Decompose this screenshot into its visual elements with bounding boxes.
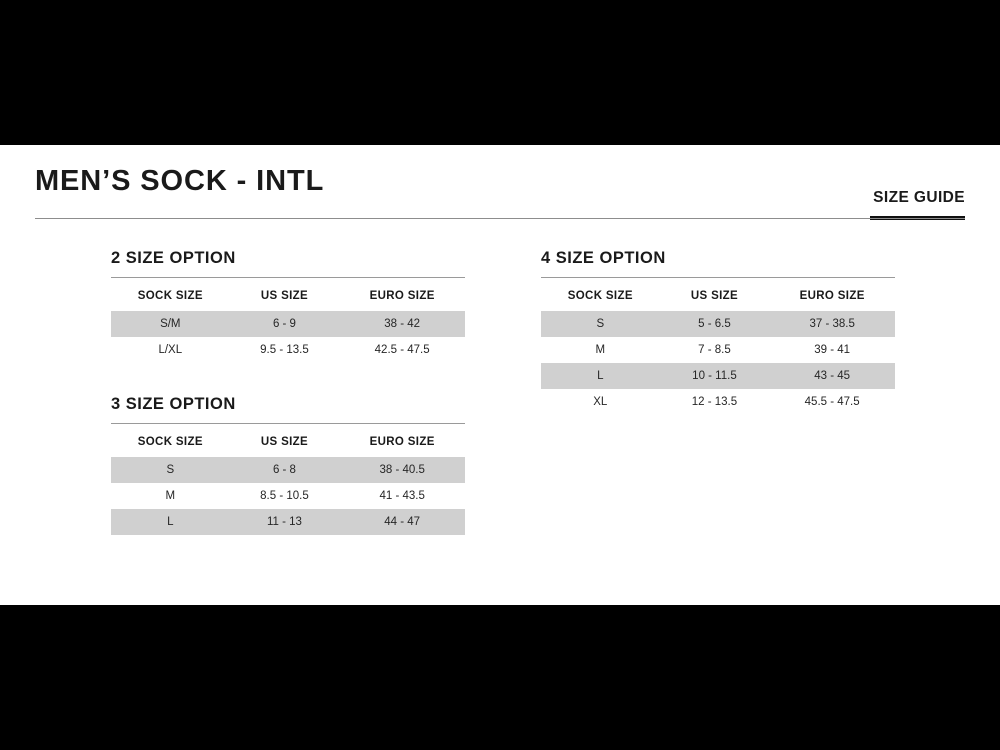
column-header-sock-size: SOCK SIZE	[541, 278, 660, 311]
cell-us-size: 8.5 - 10.5	[230, 483, 340, 509]
size-guide-sheet: MEN’S SOCK - INTL SIZE GUIDE 2 SIZE OPTI…	[0, 145, 1000, 605]
cell-sock-size: L	[541, 363, 660, 389]
cell-euro-size: 41 - 43.5	[339, 483, 465, 509]
cell-us-size: 12 - 13.5	[660, 389, 770, 415]
table-row: L/XL 9.5 - 13.5 42.5 - 47.5	[111, 337, 465, 363]
table-row: M 8.5 - 10.5 41 - 43.5	[111, 483, 465, 509]
cell-us-size: 7 - 8.5	[660, 337, 770, 363]
cell-euro-size: 38 - 42	[339, 311, 465, 337]
table-row: M 7 - 8.5 39 - 41	[541, 337, 895, 363]
cell-euro-size: 43 - 45	[769, 363, 895, 389]
cell-euro-size: 44 - 47	[339, 509, 465, 535]
letterbox-top	[0, 0, 1000, 145]
cell-sock-size: M	[111, 483, 230, 509]
cell-euro-size: 45.5 - 47.5	[769, 389, 895, 415]
size-table-3-option: SOCK SIZE US SIZE EURO SIZE S 6 - 8 38 -…	[111, 424, 465, 535]
column-header-euro-size: EURO SIZE	[339, 278, 465, 311]
size-guide-label: SIZE GUIDE	[873, 189, 965, 207]
column-header-euro-size: EURO SIZE	[339, 424, 465, 457]
table-row: L 10 - 11.5 43 - 45	[541, 363, 895, 389]
size-table-4-option: SOCK SIZE US SIZE EURO SIZE S 5 - 6.5 37…	[541, 278, 895, 415]
column-header-us-size: US SIZE	[230, 278, 340, 311]
table-row: S 5 - 6.5 37 - 38.5	[541, 311, 895, 337]
cell-sock-size: M	[541, 337, 660, 363]
cell-us-size: 10 - 11.5	[660, 363, 770, 389]
right-column: 4 SIZE OPTION SOCK SIZE US SIZE EURO SIZ…	[541, 249, 895, 415]
cell-euro-size: 42.5 - 47.5	[339, 337, 465, 363]
cell-euro-size: 39 - 41	[769, 337, 895, 363]
column-header-sock-size: SOCK SIZE	[111, 278, 230, 311]
table-row: S/M 6 - 9 38 - 42	[111, 311, 465, 337]
section-title: 3 SIZE OPTION	[111, 395, 465, 423]
cell-sock-size: XL	[541, 389, 660, 415]
cell-sock-size: S	[111, 457, 230, 483]
table-block-2-size-option: 2 SIZE OPTION SOCK SIZE US SIZE EURO SIZ…	[111, 249, 465, 363]
page-title: MEN’S SOCK - INTL	[35, 165, 324, 198]
table-row: S 6 - 8 38 - 40.5	[111, 457, 465, 483]
column-header-us-size: US SIZE	[660, 278, 770, 311]
cell-us-size: 9.5 - 13.5	[230, 337, 340, 363]
size-table-2-option: SOCK SIZE US SIZE EURO SIZE S/M 6 - 9 38…	[111, 278, 465, 363]
cell-us-size: 6 - 9	[230, 311, 340, 337]
header-divider	[35, 218, 965, 219]
left-column: 2 SIZE OPTION SOCK SIZE US SIZE EURO SIZ…	[111, 249, 465, 535]
column-header-us-size: US SIZE	[230, 424, 340, 457]
cell-us-size: 5 - 6.5	[660, 311, 770, 337]
cell-euro-size: 37 - 38.5	[769, 311, 895, 337]
cell-sock-size: L	[111, 509, 230, 535]
table-header-row: SOCK SIZE US SIZE EURO SIZE	[111, 278, 465, 311]
cell-sock-size: S	[541, 311, 660, 337]
header: MEN’S SOCK - INTL SIZE GUIDE	[0, 145, 1000, 223]
cell-us-size: 6 - 8	[230, 457, 340, 483]
section-title: 4 SIZE OPTION	[541, 249, 895, 277]
cell-sock-size: L/XL	[111, 337, 230, 363]
table-header-row: SOCK SIZE US SIZE EURO SIZE	[111, 424, 465, 457]
table-header-row: SOCK SIZE US SIZE EURO SIZE	[541, 278, 895, 311]
table-block-4-size-option: 4 SIZE OPTION SOCK SIZE US SIZE EURO SIZ…	[541, 249, 895, 415]
cell-sock-size: S/M	[111, 311, 230, 337]
table-row: L 11 - 13 44 - 47	[111, 509, 465, 535]
size-guide-page: MEN’S SOCK - INTL SIZE GUIDE 2 SIZE OPTI…	[0, 0, 1000, 750]
letterbox-bottom	[0, 605, 1000, 750]
table-row: XL 12 - 13.5 45.5 - 47.5	[541, 389, 895, 415]
section-title: 2 SIZE OPTION	[111, 249, 465, 277]
cell-us-size: 11 - 13	[230, 509, 340, 535]
table-block-3-size-option: 3 SIZE OPTION SOCK SIZE US SIZE EURO SIZ…	[111, 395, 465, 535]
cell-euro-size: 38 - 40.5	[339, 457, 465, 483]
column-header-euro-size: EURO SIZE	[769, 278, 895, 311]
column-header-sock-size: SOCK SIZE	[111, 424, 230, 457]
